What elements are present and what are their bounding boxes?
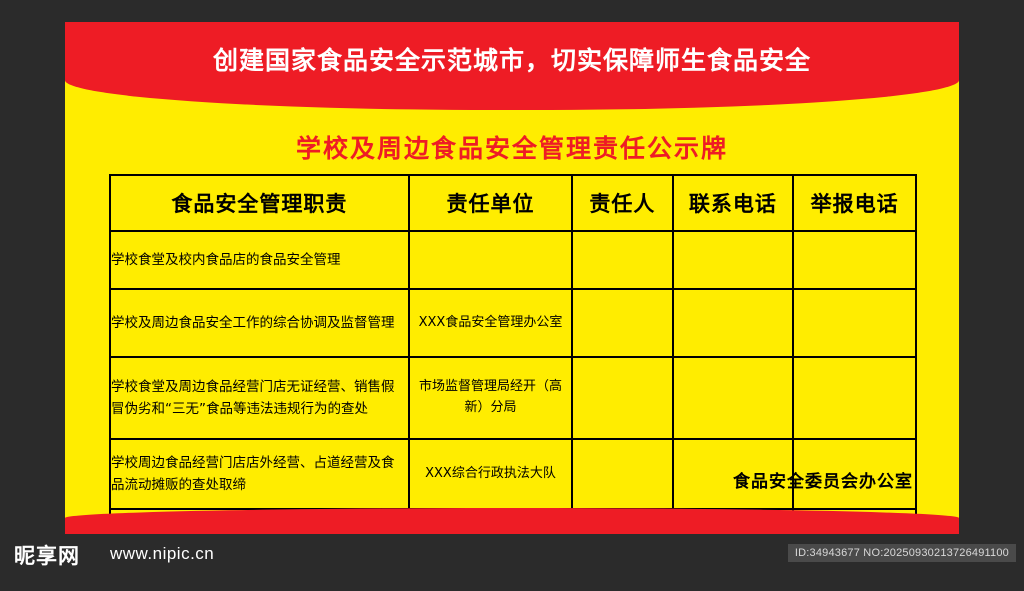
cell-report	[793, 289, 916, 357]
table-row: 学校食堂及周边食品经营门店无证经营、销售假冒伪劣和“三无”食品等违法违规行为的查…	[110, 357, 916, 439]
table-header-row: 食品安全管理职责 责任单位 责任人 联系电话 举报电话	[110, 175, 916, 231]
cell-unit: XXX食品安全管理办公室	[409, 289, 573, 357]
poster-canvas: 创建国家食品安全示范城市，切实保障师生食品安全 学校及周边食品安全管理责任公示牌…	[65, 22, 959, 534]
cell-duty: 学校周边食品经营门店店外经营、占道经营及食品流动摊贩的查处取缔	[110, 439, 409, 509]
cell-unit	[409, 231, 573, 289]
cell-duty: 学校及周边食品安全工作的综合协调及监督管理	[110, 289, 409, 357]
column-header-unit: 责任单位	[409, 175, 573, 231]
cell-person	[572, 439, 672, 509]
cell-person	[572, 231, 672, 289]
issuing-authority: 食品安全委员会办公室	[733, 467, 913, 492]
column-header-person: 责任人	[572, 175, 672, 231]
cell-report	[793, 231, 916, 289]
table-row: 学校食堂及校内食品店的食品安全管理	[110, 231, 916, 289]
red-bottom-band	[65, 508, 959, 534]
site-logo: 昵享网	[14, 540, 80, 570]
cell-duty: 学校食堂及周边食品经营门店无证经营、销售假冒伪劣和“三无”食品等违法违规行为的查…	[110, 357, 409, 439]
banner-headline: 创建国家食品安全示范城市，切实保障师生食品安全	[65, 22, 959, 96]
cell-unit: 市场监督管理局经开（高新）分局	[409, 357, 573, 439]
cell-phone	[673, 289, 794, 357]
cell-report	[793, 357, 916, 439]
cell-duty: 学校食堂及校内食品店的食品安全管理	[110, 231, 409, 289]
column-header-duty: 食品安全管理职责	[110, 175, 409, 231]
cell-person	[572, 357, 672, 439]
cell-phone	[673, 357, 794, 439]
cell-person	[572, 289, 672, 357]
site-url[interactable]: www.nipic.cn	[110, 544, 214, 564]
column-header-phone: 联系电话	[673, 175, 794, 231]
table-row: 学校及周边食品安全工作的综合协调及监督管理 XXX食品安全管理办公室	[110, 289, 916, 357]
column-header-report: 举报电话	[793, 175, 916, 231]
watermark-footer: 昵享网 www.nipic.cn ID:34943677 NO:20250930…	[0, 534, 1024, 591]
page-title: 学校及周边食品安全管理责任公示牌	[65, 129, 959, 165]
table-header: 食品安全管理职责 责任单位 责任人 联系电话 举报电话	[110, 175, 916, 231]
cell-unit: XXX综合行政执法大队	[409, 439, 573, 509]
cell-phone	[673, 231, 794, 289]
asset-id-label: ID:34943677 NO:20250930213726491100	[788, 544, 1016, 562]
